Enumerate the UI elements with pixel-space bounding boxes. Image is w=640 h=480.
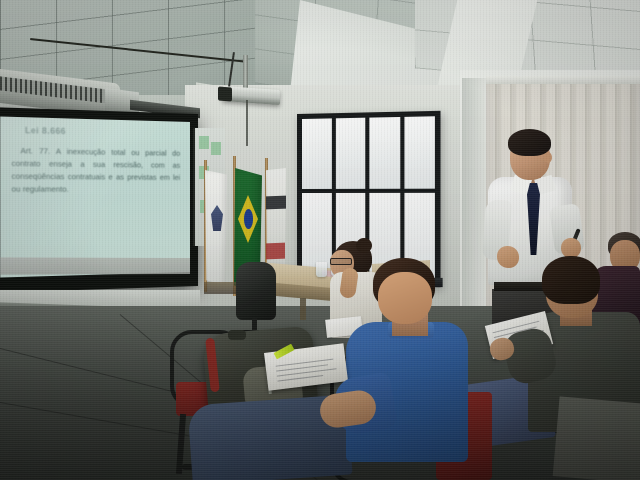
notice-paper xyxy=(199,136,209,149)
presenter-gesturing-hand xyxy=(497,246,519,268)
window-pane xyxy=(369,117,399,188)
attendee-blue-head xyxy=(378,272,432,324)
slide-body-text: Art. 77. A inexecução total ou parcial d… xyxy=(12,145,181,196)
backpack-handle xyxy=(228,330,246,340)
presenter-hair xyxy=(508,129,551,156)
window-pane xyxy=(335,118,365,189)
window-pane xyxy=(404,116,435,188)
projector-hanging-wire xyxy=(246,100,248,146)
table-leg xyxy=(300,298,306,320)
brazil-flag-globe-icon xyxy=(244,209,253,229)
attendee-foreground-legs xyxy=(553,396,640,480)
water-glass xyxy=(316,262,327,277)
presenter-ear xyxy=(544,152,552,163)
projection-screen-surface: Lei 8.666 Art. 77. A inexecução total ou… xyxy=(0,116,190,277)
photo-scene: Lei 8.666 Art. 77. A inexecução total ou… xyxy=(0,0,640,480)
attendee-woman-hair-bun xyxy=(356,238,372,253)
document-text-line xyxy=(277,375,323,382)
projection-screen-lower-band xyxy=(0,257,190,274)
presenter-hand-holding-pen xyxy=(561,238,581,258)
attendee-grey-hair xyxy=(542,256,600,304)
notice-paper xyxy=(211,142,221,155)
window-pane xyxy=(302,118,331,188)
bahia-flag-band xyxy=(266,196,286,210)
projector-mount-pole xyxy=(243,55,248,91)
slide-title: Lei 8.666 xyxy=(25,126,66,137)
office-chair-backrest[interactable] xyxy=(236,262,276,320)
projector-lens-icon xyxy=(218,87,232,102)
eyeglasses-icon xyxy=(330,258,352,265)
bahia-flag-red-band xyxy=(266,243,285,260)
